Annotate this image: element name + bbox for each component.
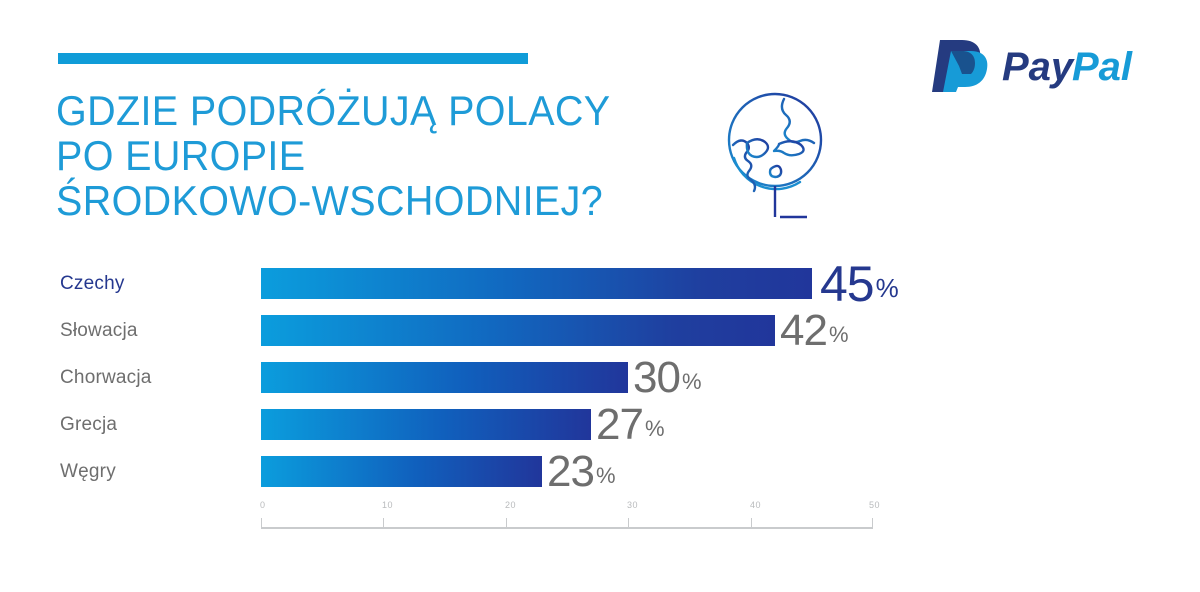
bar-chart: Czechy 45% Słowacja 42% Chorwacja 30% Gr… bbox=[0, 256, 1200, 556]
x-axis-tick bbox=[506, 518, 507, 527]
bar-value-2: 30% bbox=[633, 362, 702, 393]
bar-0 bbox=[261, 268, 812, 299]
x-axis-tick-label: 10 bbox=[382, 500, 393, 510]
table-row: Węgry 23% bbox=[0, 456, 1200, 487]
x-axis-tick-label: 20 bbox=[505, 500, 516, 510]
x-axis-tick-label: 50 bbox=[869, 500, 880, 510]
bar-label-4: Węgry bbox=[60, 456, 116, 487]
bar-label-0: Czechy bbox=[60, 268, 125, 299]
table-row: Grecja 27% bbox=[0, 409, 1200, 440]
page-title: GDZIE PODRÓŻUJĄ POLACY PO EUROPIE ŚRODKO… bbox=[56, 88, 658, 223]
bar-value-1: 42% bbox=[780, 315, 849, 346]
bar-value-0: 45% bbox=[820, 268, 899, 299]
x-axis-tick bbox=[872, 518, 873, 527]
paypal-word-pal: Pal bbox=[1072, 45, 1133, 89]
title-accent-bar bbox=[58, 53, 528, 64]
x-axis-tick bbox=[383, 518, 384, 527]
bar-value-3: 27% bbox=[596, 409, 665, 440]
bar-value-4: 23% bbox=[547, 456, 616, 487]
bar-label-2: Chorwacja bbox=[60, 362, 152, 393]
bar-1 bbox=[261, 315, 775, 346]
x-axis-tick-label: 0 bbox=[260, 500, 266, 510]
table-row: Czechy 45% bbox=[0, 268, 1200, 299]
bar-3 bbox=[261, 409, 591, 440]
table-row: Słowacja 42% bbox=[0, 315, 1200, 346]
bar-label-3: Grecja bbox=[60, 409, 117, 440]
bar-4 bbox=[261, 456, 542, 487]
bar-label-1: Słowacja bbox=[60, 315, 138, 346]
x-axis-tick bbox=[261, 518, 262, 527]
globe-on-stand-icon bbox=[676, 86, 846, 232]
x-axis-tick bbox=[751, 518, 752, 527]
x-axis-tick-label: 40 bbox=[750, 500, 761, 510]
paypal-word-pay: Pay bbox=[1002, 45, 1075, 89]
x-axis-tick bbox=[628, 518, 629, 527]
table-row: Chorwacja 30% bbox=[0, 362, 1200, 393]
bar-2 bbox=[261, 362, 628, 393]
x-axis-tick-label: 30 bbox=[627, 500, 638, 510]
paypal-logo: Pay Pal bbox=[932, 36, 1148, 92]
x-axis: 0 10 20 30 40 50 bbox=[261, 527, 873, 529]
